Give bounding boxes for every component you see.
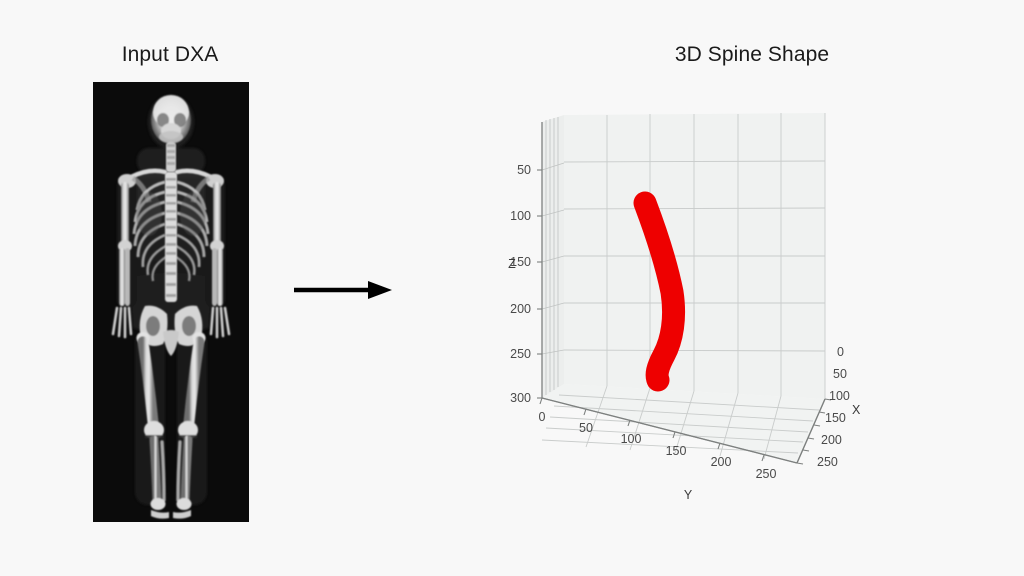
- spine-3d-plot: 50 100 150 200 250 300 Z: [480, 0, 1024, 576]
- dxa-scan-image: [93, 82, 249, 522]
- y-axis-label: Y: [684, 488, 693, 502]
- x-axis-label: X: [852, 403, 861, 417]
- x-tick-label: 0: [837, 345, 844, 359]
- y-tick-label: 250: [756, 467, 777, 481]
- x-tick-label: 200: [821, 433, 842, 447]
- z-tick-label: 250: [510, 347, 531, 361]
- z-tick-label: 200: [510, 302, 531, 316]
- x-tick-label: 100: [829, 389, 850, 403]
- x-tick-label: 50: [833, 367, 847, 381]
- z-tick-label: 50: [517, 163, 531, 177]
- z-axis-line: [537, 122, 542, 398]
- input-dxa-title: Input DXA: [0, 43, 340, 67]
- y-tick-label: 200: [711, 455, 732, 469]
- z-tick-label: 100: [510, 209, 531, 223]
- y-tick-label: 150: [666, 444, 687, 458]
- y-tick-label: 0: [539, 410, 546, 424]
- axes-3d: 50 100 150 200 250 300 Z: [480, 0, 1024, 576]
- right-arrow-icon: [280, 255, 410, 325]
- pane-back: [564, 113, 825, 399]
- transform-arrow: [280, 255, 410, 325]
- z-axis-label: Z: [508, 257, 516, 271]
- y-tick-label: 100: [621, 432, 642, 446]
- dxa-skeleton-graphic: [93, 82, 249, 522]
- x-tick-label: 150: [825, 411, 846, 425]
- z-tick-labels: 50 100 150 200 250 300: [510, 163, 531, 405]
- spine-3d-panel: 3D Spine Shape: [480, 0, 1024, 576]
- x-tick-label: 250: [817, 455, 838, 469]
- y-tick-label: 50: [579, 421, 593, 435]
- z-tick-label: 300: [510, 391, 531, 405]
- pane-left: [542, 115, 564, 398]
